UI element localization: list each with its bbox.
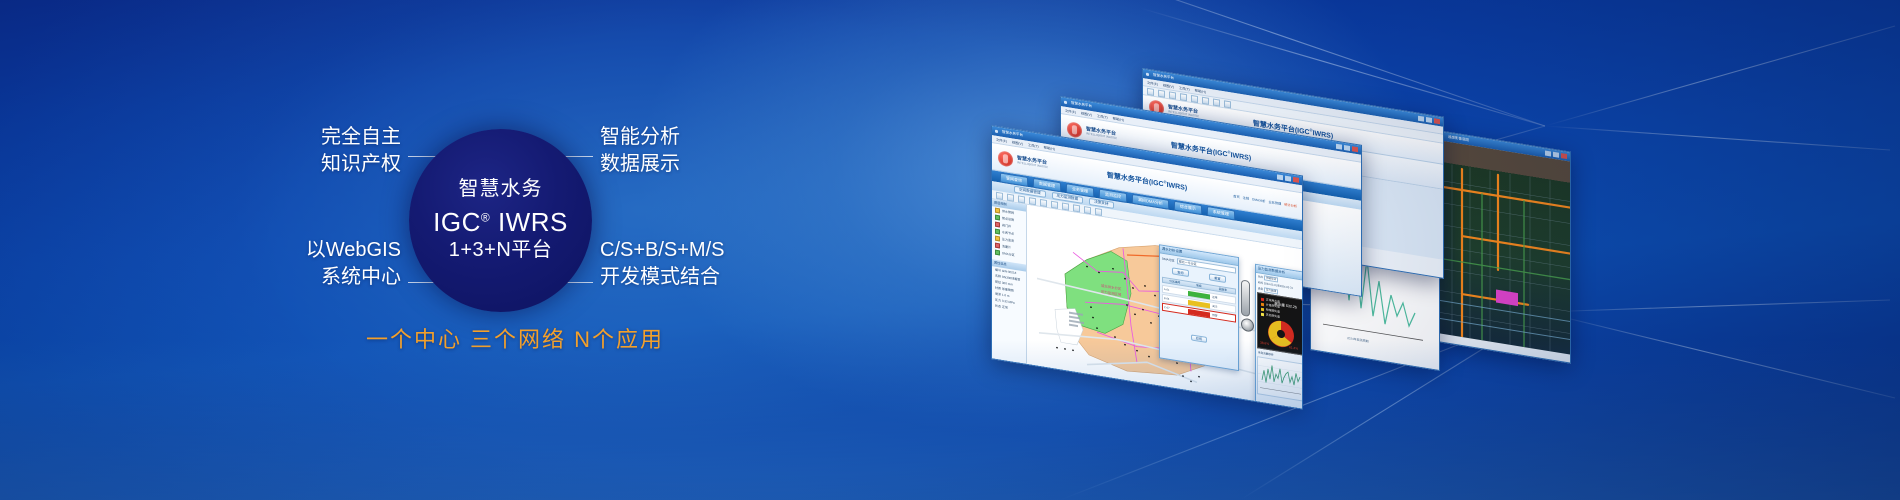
app-title-post: IWRS) xyxy=(1231,152,1252,162)
pan-icon xyxy=(1213,98,1220,106)
leaf-top-left-line1: 完全自主 xyxy=(307,124,401,151)
layer-swatch-icon xyxy=(995,215,1000,221)
link-stats[interactable]: 统计分析 xyxy=(1284,201,1297,208)
dialog-query-button[interactable]: 查询 xyxy=(1172,267,1188,277)
zoom-out-icon xyxy=(1029,197,1036,205)
link-logout[interactable]: 注销 xyxy=(1243,194,1249,200)
front-right-links[interactable]: 首页 注销 DMA分析 业务管理 统计分析 xyxy=(1233,193,1297,208)
query-icon xyxy=(1073,204,1080,212)
brand-name: 智慧水务平台 INTELLIGENT WATER xyxy=(1086,126,1117,141)
level-swatch-red xyxy=(1188,308,1211,317)
print-icon xyxy=(1084,206,1091,214)
front-app-title: 智慧水务平台(IGC®IWRS) xyxy=(1107,170,1187,193)
layer-swatch-icon xyxy=(995,236,1000,242)
status-scale: 比例尺 1:5000 xyxy=(996,365,1015,372)
status-coords: 坐标 X:428356 Y:3512088 xyxy=(1021,369,1056,379)
badge-iwrs: IWRS xyxy=(498,207,568,237)
dialog-apply-button[interactable]: 应用 xyxy=(1191,334,1207,343)
minimize-icon xyxy=(1336,144,1342,150)
close-icon xyxy=(1352,146,1358,152)
dialog-reset-button[interactable]: 重置 xyxy=(1209,273,1225,283)
layer-panel[interactable]: 图层控制 供水管网 管点设施 阀门井 水表节点 压力监测 流量计 DMA分区 属… xyxy=(992,199,1027,368)
analysis-panel[interactable]: 压力监测数据分析 站点 东城泵站 时段 2024-03-01至2024-03-3… xyxy=(1255,264,1302,410)
perspective-grid xyxy=(0,0,1900,500)
layer-swatch-icon xyxy=(995,243,1000,249)
leaf-bottom-right-line2: 开发模式结合 xyxy=(600,264,725,291)
layer-swatch-icon xyxy=(995,250,1000,256)
zoom-out-icon xyxy=(1202,96,1209,104)
minimize-icon xyxy=(1418,116,1424,122)
satellite-map-canvas[interactable] xyxy=(1438,140,1570,354)
menu-view[interactable]: 视图(V) xyxy=(1163,82,1174,89)
window-icon xyxy=(995,130,998,133)
layer-swatch-icon xyxy=(995,229,1000,235)
layers-icon xyxy=(1095,207,1102,215)
layer-swatch-icon xyxy=(995,208,1000,214)
menu-file[interactable]: 文件(F) xyxy=(1065,108,1076,115)
pointer-icon xyxy=(996,191,1003,199)
dialog-field-label: DMA分区 xyxy=(1162,257,1175,263)
leaf-bottom-left-line1: 以WebGIS xyxy=(297,237,401,264)
menu-file[interactable]: 文件(F) xyxy=(996,137,1007,144)
new-icon xyxy=(1147,87,1154,95)
maximize-icon xyxy=(1553,152,1559,158)
leaf-bottom-right: C/S+B/S+M/S 开发模式结合 xyxy=(600,237,725,291)
zoom-in-icon xyxy=(1191,94,1198,102)
brand-name: 智慧水务平台 INTELLIGENT WATER xyxy=(1017,155,1048,170)
select-icon xyxy=(1224,100,1231,108)
core-badge: 智慧水务 IGC® IWRS 1+3+N平台 xyxy=(409,129,592,312)
taskbar-item-app[interactable]: 智慧水务平台(IGC®IWRS) xyxy=(1014,375,1057,388)
maximize-icon xyxy=(1426,117,1432,123)
leaf-bottom-right-line1: C/S+B/S+M/S xyxy=(600,237,725,264)
tagline: 一个中心 三个网络 N个应用 xyxy=(350,322,680,354)
map-vectors xyxy=(1438,140,1570,354)
menu-tools[interactable]: 工具(T) xyxy=(1028,142,1039,149)
analysis-trend-chart xyxy=(1257,356,1302,401)
menu-help[interactable]: 帮助(H) xyxy=(1195,88,1206,95)
window-app-front[interactable]: 智慧水务平台 文件(F) 视图(V) 工具(T) 帮助(H) 智慧水务平台 IN… xyxy=(991,125,1303,410)
menu-tools[interactable]: 工具(T) xyxy=(1179,85,1190,92)
badge-line-1: 智慧水务 xyxy=(459,179,543,201)
leak-analysis-dialog[interactable]: 漏水分析设置 DMA分区 城北一号分区 查询 重置 分区编号 等级 漏损率 xyxy=(1159,244,1239,371)
leaf-top-right: 智能分析 数据展示 xyxy=(600,124,680,178)
window-map[interactable]: 遥感影像底图 xyxy=(1437,130,1571,364)
link-business[interactable]: 业务管理 xyxy=(1269,198,1282,205)
svg-text:61.4%: 61.4% xyxy=(1289,345,1298,350)
vignette-overlay xyxy=(0,0,1900,500)
app-title-pre: 智慧水务平台(IGC xyxy=(1107,172,1164,188)
banner-stage: 智慧水务 IGC® IWRS 1+3+N平台 完全自主 知识产权 智能分析 数据… xyxy=(0,0,1900,500)
identify-icon xyxy=(1062,202,1069,210)
menu-help[interactable]: 帮助(H) xyxy=(1044,145,1055,152)
brand-logo-icon xyxy=(1067,121,1082,138)
leaf-top-left-line2: 知识产权 xyxy=(307,151,401,178)
menu-tools[interactable]: 工具(T) xyxy=(1097,113,1108,120)
leaf-top-left: 完全自主 知识产权 xyxy=(307,124,401,178)
leak-donut-chart: 正常用水量 计量损失量 物理漏失量 其他损失量 漏水量 532.25 xyxy=(1257,292,1302,355)
leaf-top-right-line2: 数据展示 xyxy=(600,151,680,178)
taskbar-start-button[interactable]: 开始 xyxy=(996,372,1010,380)
menu-file[interactable]: 文件(F) xyxy=(1147,80,1158,87)
selected-region-highlight xyxy=(1496,290,1518,307)
layer-swatch-icon xyxy=(995,222,1000,228)
menu-help[interactable]: 帮助(H) xyxy=(1113,116,1124,123)
donut-svg: 38.6% 61.4% xyxy=(1258,293,1302,354)
app-title-post: IWRS) xyxy=(1167,182,1188,192)
link-dma[interactable]: DMA分析 xyxy=(1252,196,1265,203)
menu-view[interactable]: 视图(V) xyxy=(1081,110,1092,117)
svg-text:38.6%: 38.6% xyxy=(1260,341,1269,346)
taskbar-item-gis[interactable]: GIS数据管理 xyxy=(1061,383,1086,393)
minimize-icon xyxy=(1277,174,1283,180)
close-icon xyxy=(1293,177,1299,183)
zoom-slider[interactable] xyxy=(1241,279,1250,316)
leaf-bottom-left: 以WebGIS 系统中心 xyxy=(297,237,401,291)
floor-haze xyxy=(0,340,1900,500)
maximize-icon xyxy=(1285,176,1291,182)
leaf-top-right-line1: 智能分析 xyxy=(600,124,680,151)
save-icon xyxy=(1169,91,1176,99)
badge-registered-icon: ® xyxy=(481,210,490,224)
window-icon xyxy=(1064,101,1067,104)
menu-view[interactable]: 视图(V) xyxy=(1012,139,1023,146)
window-icon xyxy=(1146,73,1149,76)
analysis-line-svg xyxy=(1258,357,1302,398)
leaf-bottom-left-line2: 系统中心 xyxy=(297,264,401,291)
brand-logo-icon xyxy=(998,150,1013,167)
close-icon xyxy=(1434,118,1440,124)
zoom-in-icon xyxy=(1018,195,1025,203)
maximize-icon xyxy=(1344,145,1350,151)
measure-icon xyxy=(1051,200,1058,208)
close-icon xyxy=(1561,153,1567,159)
badge-line-3: 1+3+N平台 xyxy=(449,240,553,262)
map-navigation-control[interactable] xyxy=(1241,279,1250,331)
badge-line-2: IGC® IWRS xyxy=(433,208,568,236)
full-extent-icon xyxy=(1040,198,1047,206)
print-icon xyxy=(1180,93,1187,101)
open-icon xyxy=(1158,89,1165,97)
link-home[interactable]: 首页 xyxy=(1233,193,1239,199)
pan-icon xyxy=(1007,193,1014,201)
minimize-icon xyxy=(1545,150,1551,156)
badge-igc: IGC xyxy=(433,207,481,237)
status-ready: 就绪 xyxy=(1062,376,1068,381)
